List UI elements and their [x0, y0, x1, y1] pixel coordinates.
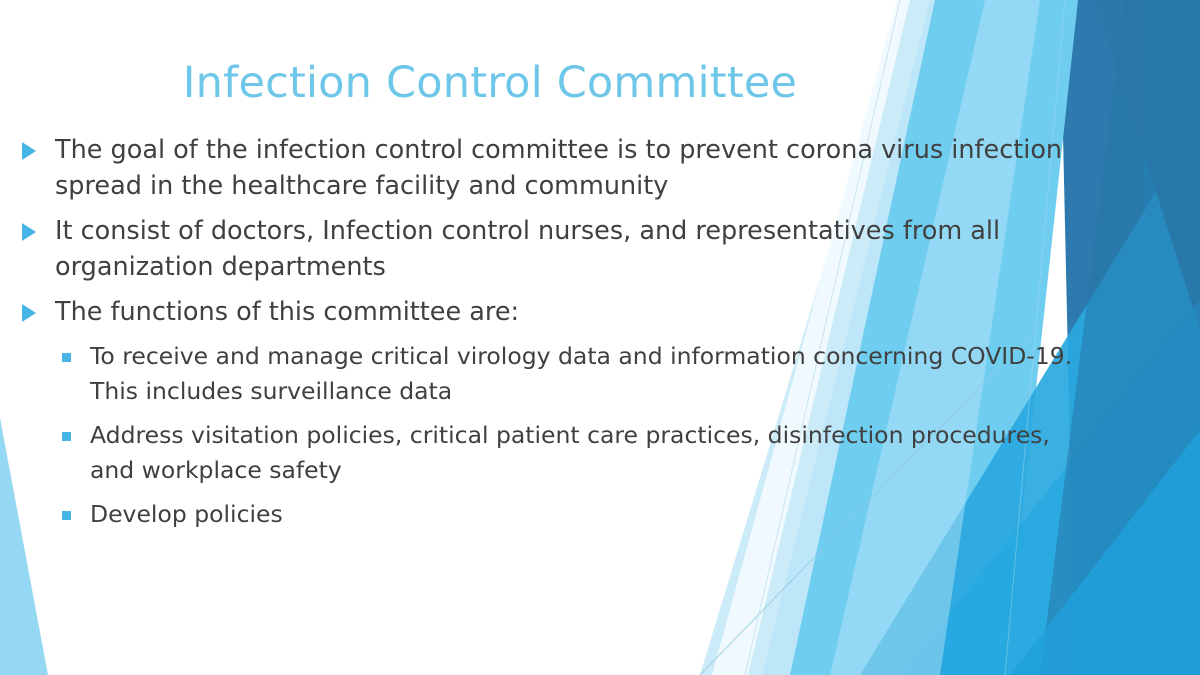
bullet-text: The functions of this committee are:	[55, 294, 1082, 330]
sub-bullet-item: Address visitation policies, critical pa…	[22, 418, 1082, 488]
bullet-text: The goal of the infection control commit…	[55, 132, 1082, 204]
square-bullet-icon	[62, 511, 71, 520]
bullet-item: The functions of this committee are:	[22, 294, 1082, 330]
sub-bullet-text: To receive and manage critical virology …	[90, 339, 1080, 409]
bullet-text: It consist of doctors, Infection control…	[55, 213, 1082, 285]
triangle-bullet-icon	[22, 304, 36, 322]
sub-bullet-item: Develop policies	[22, 497, 1082, 532]
sub-bullet-text: Develop policies	[90, 497, 1080, 532]
title-placeholder: Infection Control Committee	[0, 60, 980, 107]
decor-shape-bright-blue-outer	[1140, 0, 1200, 675]
bullet-item: It consist of doctors, Infection control…	[22, 213, 1082, 285]
square-bullet-icon	[62, 353, 71, 362]
sub-bullet-text: Address visitation policies, critical pa…	[90, 418, 1080, 488]
decor-shape-deep-accent-triangle	[1095, 0, 1200, 330]
presentation-slide: Infection Control Committee The goal of …	[0, 0, 1200, 675]
bullet-item: The goal of the infection control commit…	[22, 132, 1082, 204]
triangle-bullet-icon	[22, 223, 36, 241]
content-placeholder: The goal of the infection control commit…	[22, 132, 1082, 541]
triangle-bullet-icon	[22, 142, 36, 160]
page-title: Infection Control Committee	[0, 60, 980, 107]
sub-bullet-item: To receive and manage critical virology …	[22, 339, 1082, 409]
square-bullet-icon	[62, 432, 71, 441]
